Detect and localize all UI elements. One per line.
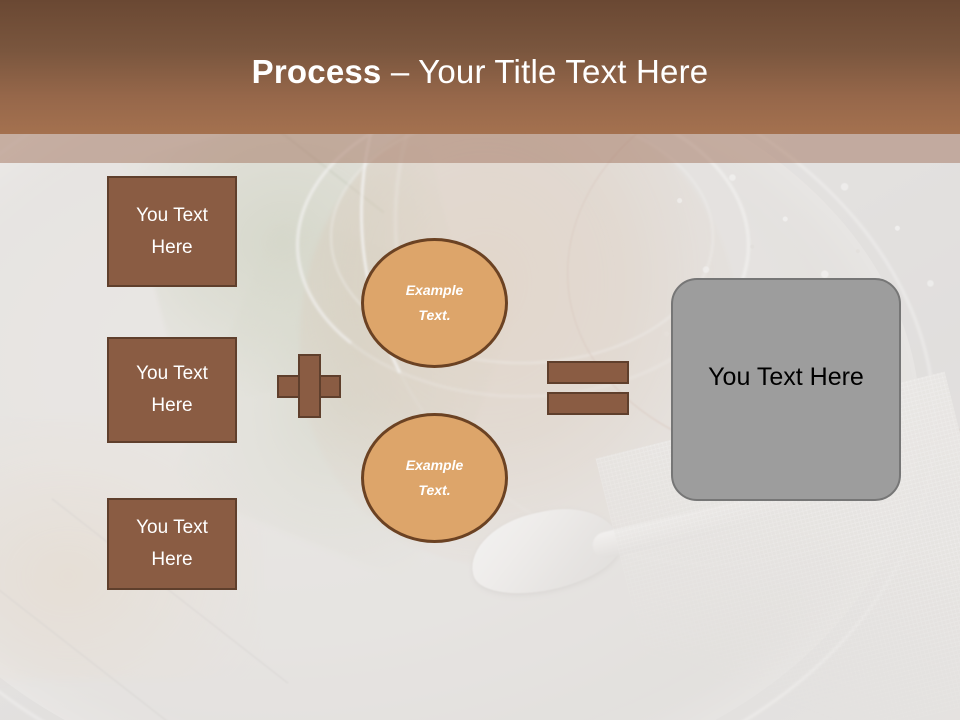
equals-icon <box>547 361 629 416</box>
title-band-accent-stripe <box>0 134 960 163</box>
page-title-bold-part: Process <box>252 53 382 90</box>
example-circle-2-line-1: Example <box>406 453 464 478</box>
result-box[interactable]: You Text Here <box>671 278 901 501</box>
example-circle-1-line-2: Text. <box>418 303 450 328</box>
plus-icon <box>277 354 341 418</box>
example-circle-2-line-2: Text. <box>418 478 450 503</box>
page-title: Process – Your Title Text Here <box>0 52 960 92</box>
input-box-1[interactable]: You Text Here <box>107 176 237 287</box>
equals-icon-bottom-bar <box>547 392 629 415</box>
presentation-slide: Process – Your Title Text Here You Text … <box>0 0 960 720</box>
example-circle-1-line-1: Example <box>406 278 464 303</box>
input-box-2[interactable]: You Text Here <box>107 337 237 443</box>
example-circle-2[interactable]: Example Text. <box>361 413 508 543</box>
input-box-3[interactable]: You Text Here <box>107 498 237 590</box>
equals-icon-top-bar <box>547 361 629 384</box>
plus-icon-center-fill <box>300 377 319 396</box>
page-title-rest-part: – Your Title Text Here <box>381 53 708 90</box>
example-circle-1[interactable]: Example Text. <box>361 238 508 368</box>
